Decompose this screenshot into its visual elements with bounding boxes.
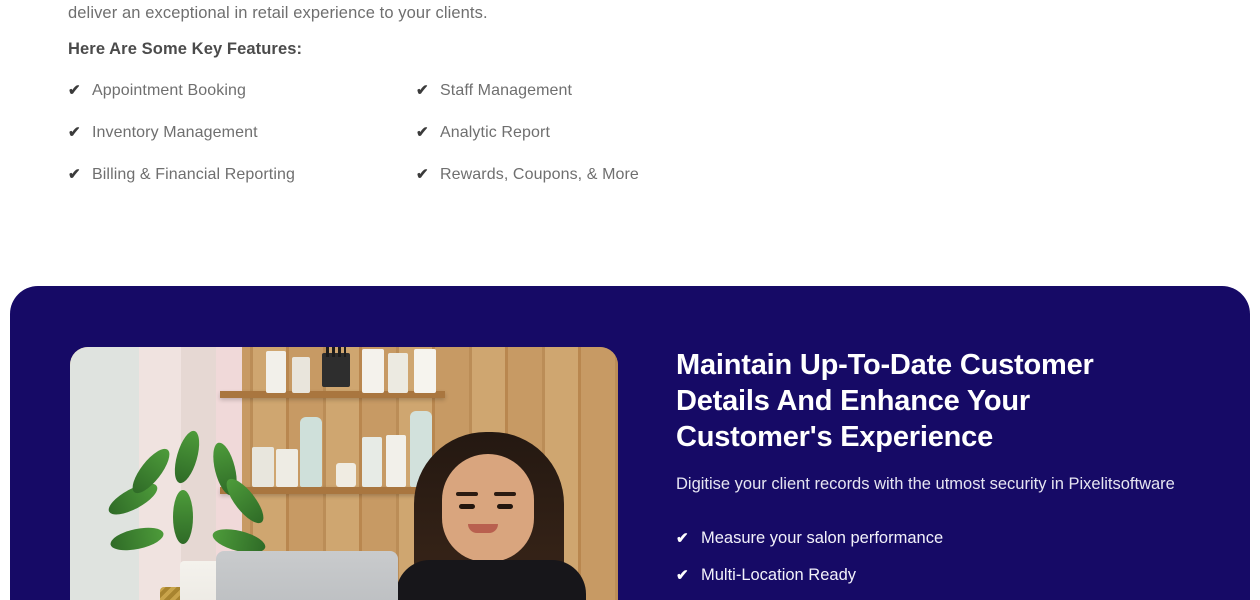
photo-shelf-top	[220, 391, 445, 398]
photo-eye	[497, 504, 513, 509]
section-lede: deliver an exceptional in retail experie…	[68, 0, 668, 26]
photo-product	[362, 349, 384, 393]
section-subtext: Digitise your client records with the ut…	[676, 472, 1176, 497]
check-icon: ✔	[676, 529, 689, 547]
photo-leaf	[109, 524, 166, 555]
feature-item: ✔ Appointment Booking	[68, 81, 416, 101]
photo-product	[336, 463, 356, 487]
key-features-heading: Here Are Some Key Features:	[68, 40, 668, 59]
check-icon: ✔	[416, 81, 429, 101]
check-icon: ✔	[68, 165, 81, 185]
photo-brow	[456, 492, 478, 496]
landing-page: deliver an exceptional in retail experie…	[0, 0, 1260, 600]
customer-details-copy: Maintain Up-To-Date Customer Details And…	[676, 347, 1176, 586]
feature-item: ✔ Analytic Report	[416, 123, 668, 143]
benefit-item: ✔ Multi-Location Ready	[676, 564, 1176, 586]
photo-product	[266, 351, 286, 393]
benefit-label: Measure your salon performance	[701, 527, 943, 549]
feature-label: Analytic Report	[440, 123, 550, 143]
photo-eye	[459, 504, 475, 509]
benefits-list: ✔ Measure your salon performance ✔ Multi…	[676, 527, 1176, 586]
hero-media-cluster: Invoice #1234567 $1,200.00 Invoice #0567…	[720, 0, 1260, 190]
feature-item: ✔ Rewards, Coupons, & More	[416, 165, 668, 185]
photo-product	[292, 357, 310, 393]
section-heading: Maintain Up-To-Date Customer Details And…	[676, 347, 1176, 455]
feature-item: ✔ Billing & Financial Reporting	[68, 165, 416, 185]
feature-label: Inventory Management	[92, 123, 258, 143]
photo-product	[362, 437, 382, 487]
feature-label: Rewards, Coupons, & More	[440, 165, 639, 185]
check-icon: ✔	[416, 123, 429, 143]
photo-brow	[494, 492, 516, 496]
benefit-item: ✔ Measure your salon performance	[676, 527, 1176, 549]
feature-label: Appointment Booking	[92, 81, 246, 101]
features-copy: deliver an exceptional in retail experie…	[68, 0, 668, 185]
check-icon: ✔	[68, 81, 81, 101]
feature-item: ✔ Staff Management	[416, 81, 668, 101]
customer-details-section: Maintain Up-To-Date Customer Details And…	[10, 286, 1250, 600]
photo-product	[300, 417, 322, 487]
check-icon: ✔	[68, 123, 81, 143]
photo-product	[388, 353, 408, 393]
check-icon: ✔	[416, 165, 429, 185]
benefit-label: Multi-Location Ready	[701, 564, 856, 586]
feature-item: ✔ Inventory Management	[68, 123, 416, 143]
photo-black-top	[396, 560, 586, 600]
photo-leaf	[220, 474, 269, 529]
features-list: ✔ Appointment Booking ✔ Staff Management…	[68, 81, 668, 185]
features-section: deliver an exceptional in retail experie…	[0, 0, 1260, 286]
photo-leaf	[173, 490, 193, 544]
photo-woman	[390, 432, 590, 600]
photo-pens	[326, 347, 346, 357]
salon-photo	[70, 347, 618, 600]
photo-face	[442, 454, 534, 562]
photo-laptop	[216, 551, 398, 600]
photo-lips	[468, 524, 498, 533]
photo-pen-cup	[322, 353, 350, 387]
feature-label: Staff Management	[440, 81, 572, 101]
check-icon: ✔	[676, 566, 689, 584]
photo-product	[414, 349, 436, 393]
feature-label: Billing & Financial Reporting	[92, 165, 295, 185]
